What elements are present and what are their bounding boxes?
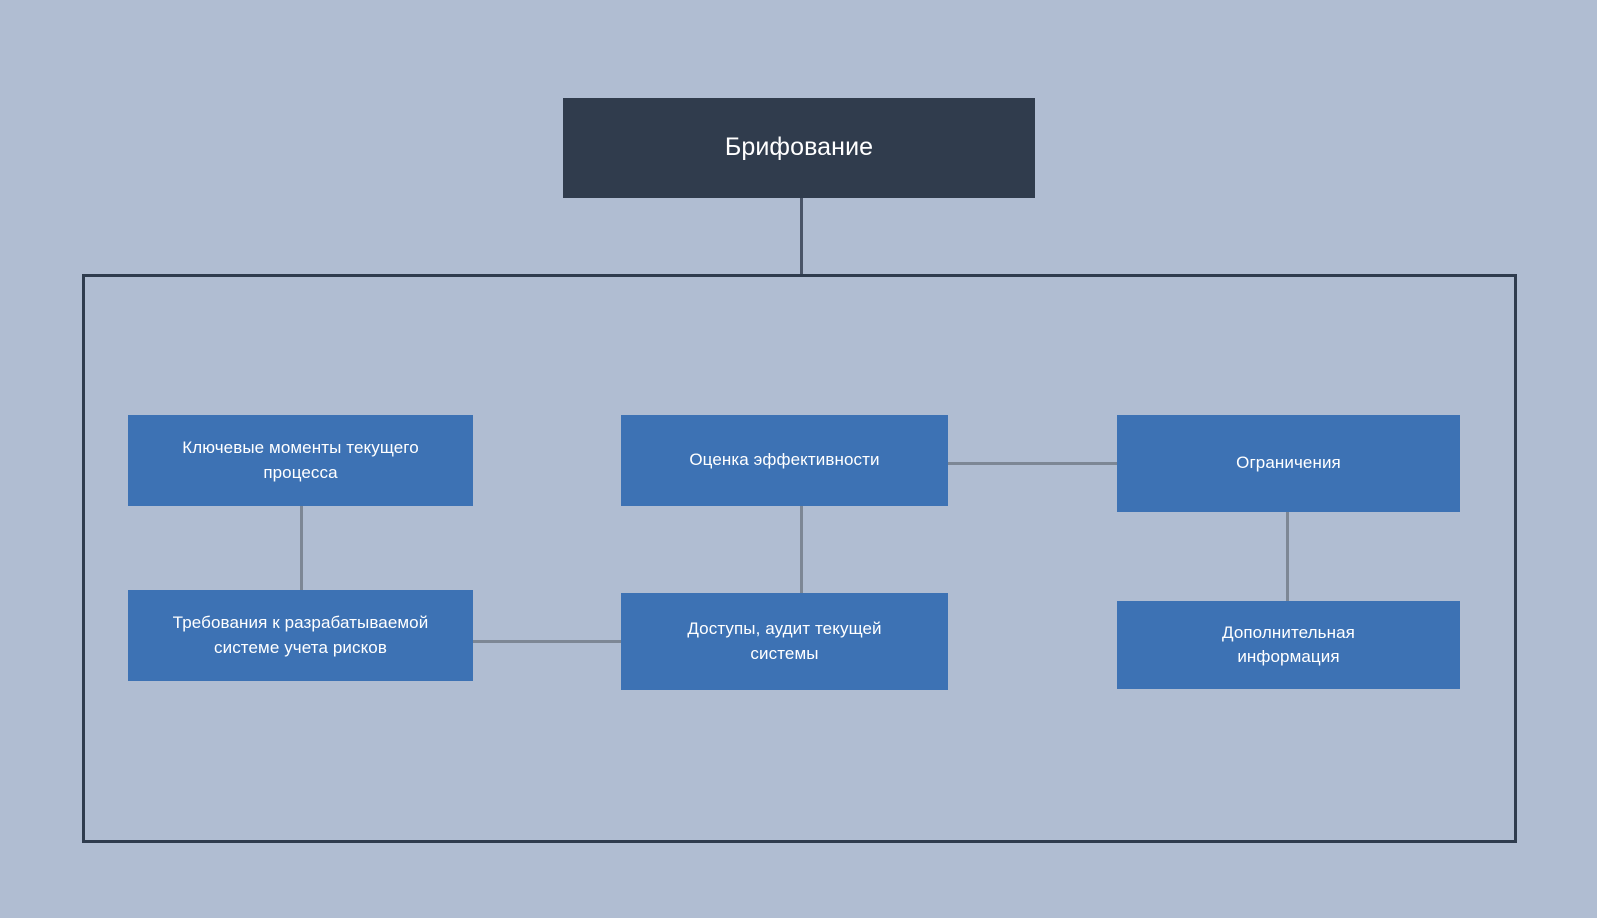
- node-requirements[interactable]: Требования к разрабатываемой системе уче…: [128, 590, 473, 681]
- diagram-canvas: Брифование Ключевые моменты текущего про…: [0, 0, 1597, 918]
- connector-key-moments-to-requirements: [300, 506, 303, 590]
- connector-requirements-to-access-audit: [466, 640, 623, 643]
- node-label-requirements: Требования к разрабатываемой системе уче…: [128, 611, 473, 659]
- node-label-limitations: Ограничения: [1230, 451, 1347, 475]
- connector-effectiveness-to-limitations: [948, 462, 1117, 465]
- connector-root-to-group: [800, 198, 803, 276]
- node-effectiveness[interactable]: Оценка эффективности: [621, 415, 948, 506]
- node-label-brifovanie: Брифование: [719, 130, 879, 166]
- node-limitations[interactable]: Ограничения: [1117, 415, 1460, 512]
- connector-effectiveness-to-access-audit: [800, 506, 803, 594]
- connector-limitations-to-extra-info: [1286, 512, 1289, 602]
- node-label-extra-info: Дополнительная информация: [1216, 621, 1361, 669]
- node-label-effectiveness: Оценка эффективности: [683, 448, 885, 472]
- node-access-audit[interactable]: Доступы, аудит текущей системы: [621, 593, 948, 690]
- node-key-moments[interactable]: Ключевые моменты текущего процесса: [128, 415, 473, 506]
- node-label-key-moments: Ключевые моменты текущего процесса: [176, 436, 425, 484]
- node-label-access-audit: Доступы, аудит текущей системы: [681, 617, 887, 665]
- node-brifovanie[interactable]: Брифование: [563, 98, 1035, 198]
- node-extra-info[interactable]: Дополнительная информация: [1117, 601, 1460, 689]
